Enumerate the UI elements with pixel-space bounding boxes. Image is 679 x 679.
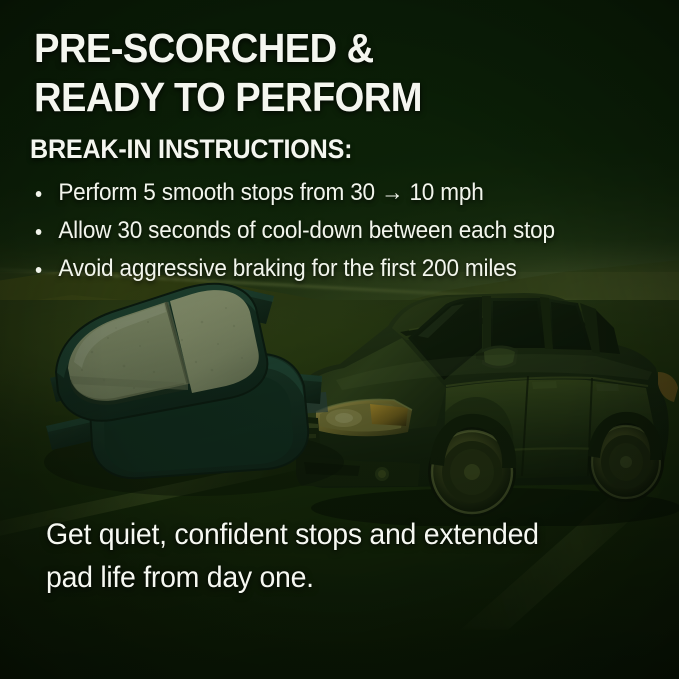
- instructions-list: Perform 5 smooth stops from 30 → 10 mph …: [32, 174, 662, 288]
- list-item-label: Perform 5 smooth stops from 30 → 10 mph: [58, 179, 483, 206]
- list-item: Perform 5 smooth stops from 30 → 10 mph: [32, 174, 624, 212]
- benefit-caption: Get quiet, confident stops and extended …: [46, 513, 626, 599]
- page-title: PRE-SCORCHED & READY TO PERFORM: [34, 24, 611, 122]
- list-item-label: Avoid aggressive braking for the first 2…: [58, 255, 516, 282]
- break-in-instructions-heading: BREAK-IN INSTRUCTIONS:: [30, 134, 352, 165]
- list-item-label: Allow 30 seconds of cool-down between ea…: [58, 217, 555, 244]
- text-content: PRE-SCORCHED & READY TO PERFORM BREAK-IN…: [0, 0, 679, 679]
- list-item: Allow 30 seconds of cool-down between ea…: [32, 212, 624, 250]
- bullet-dot-icon: [36, 229, 42, 235]
- list-item: Avoid aggressive braking for the first 2…: [32, 250, 624, 288]
- bullet-dot-icon: [36, 191, 42, 197]
- bullet-dot-icon: [36, 267, 42, 273]
- promo-banner: PRE-SCORCHED & READY TO PERFORM BREAK-IN…: [0, 0, 679, 679]
